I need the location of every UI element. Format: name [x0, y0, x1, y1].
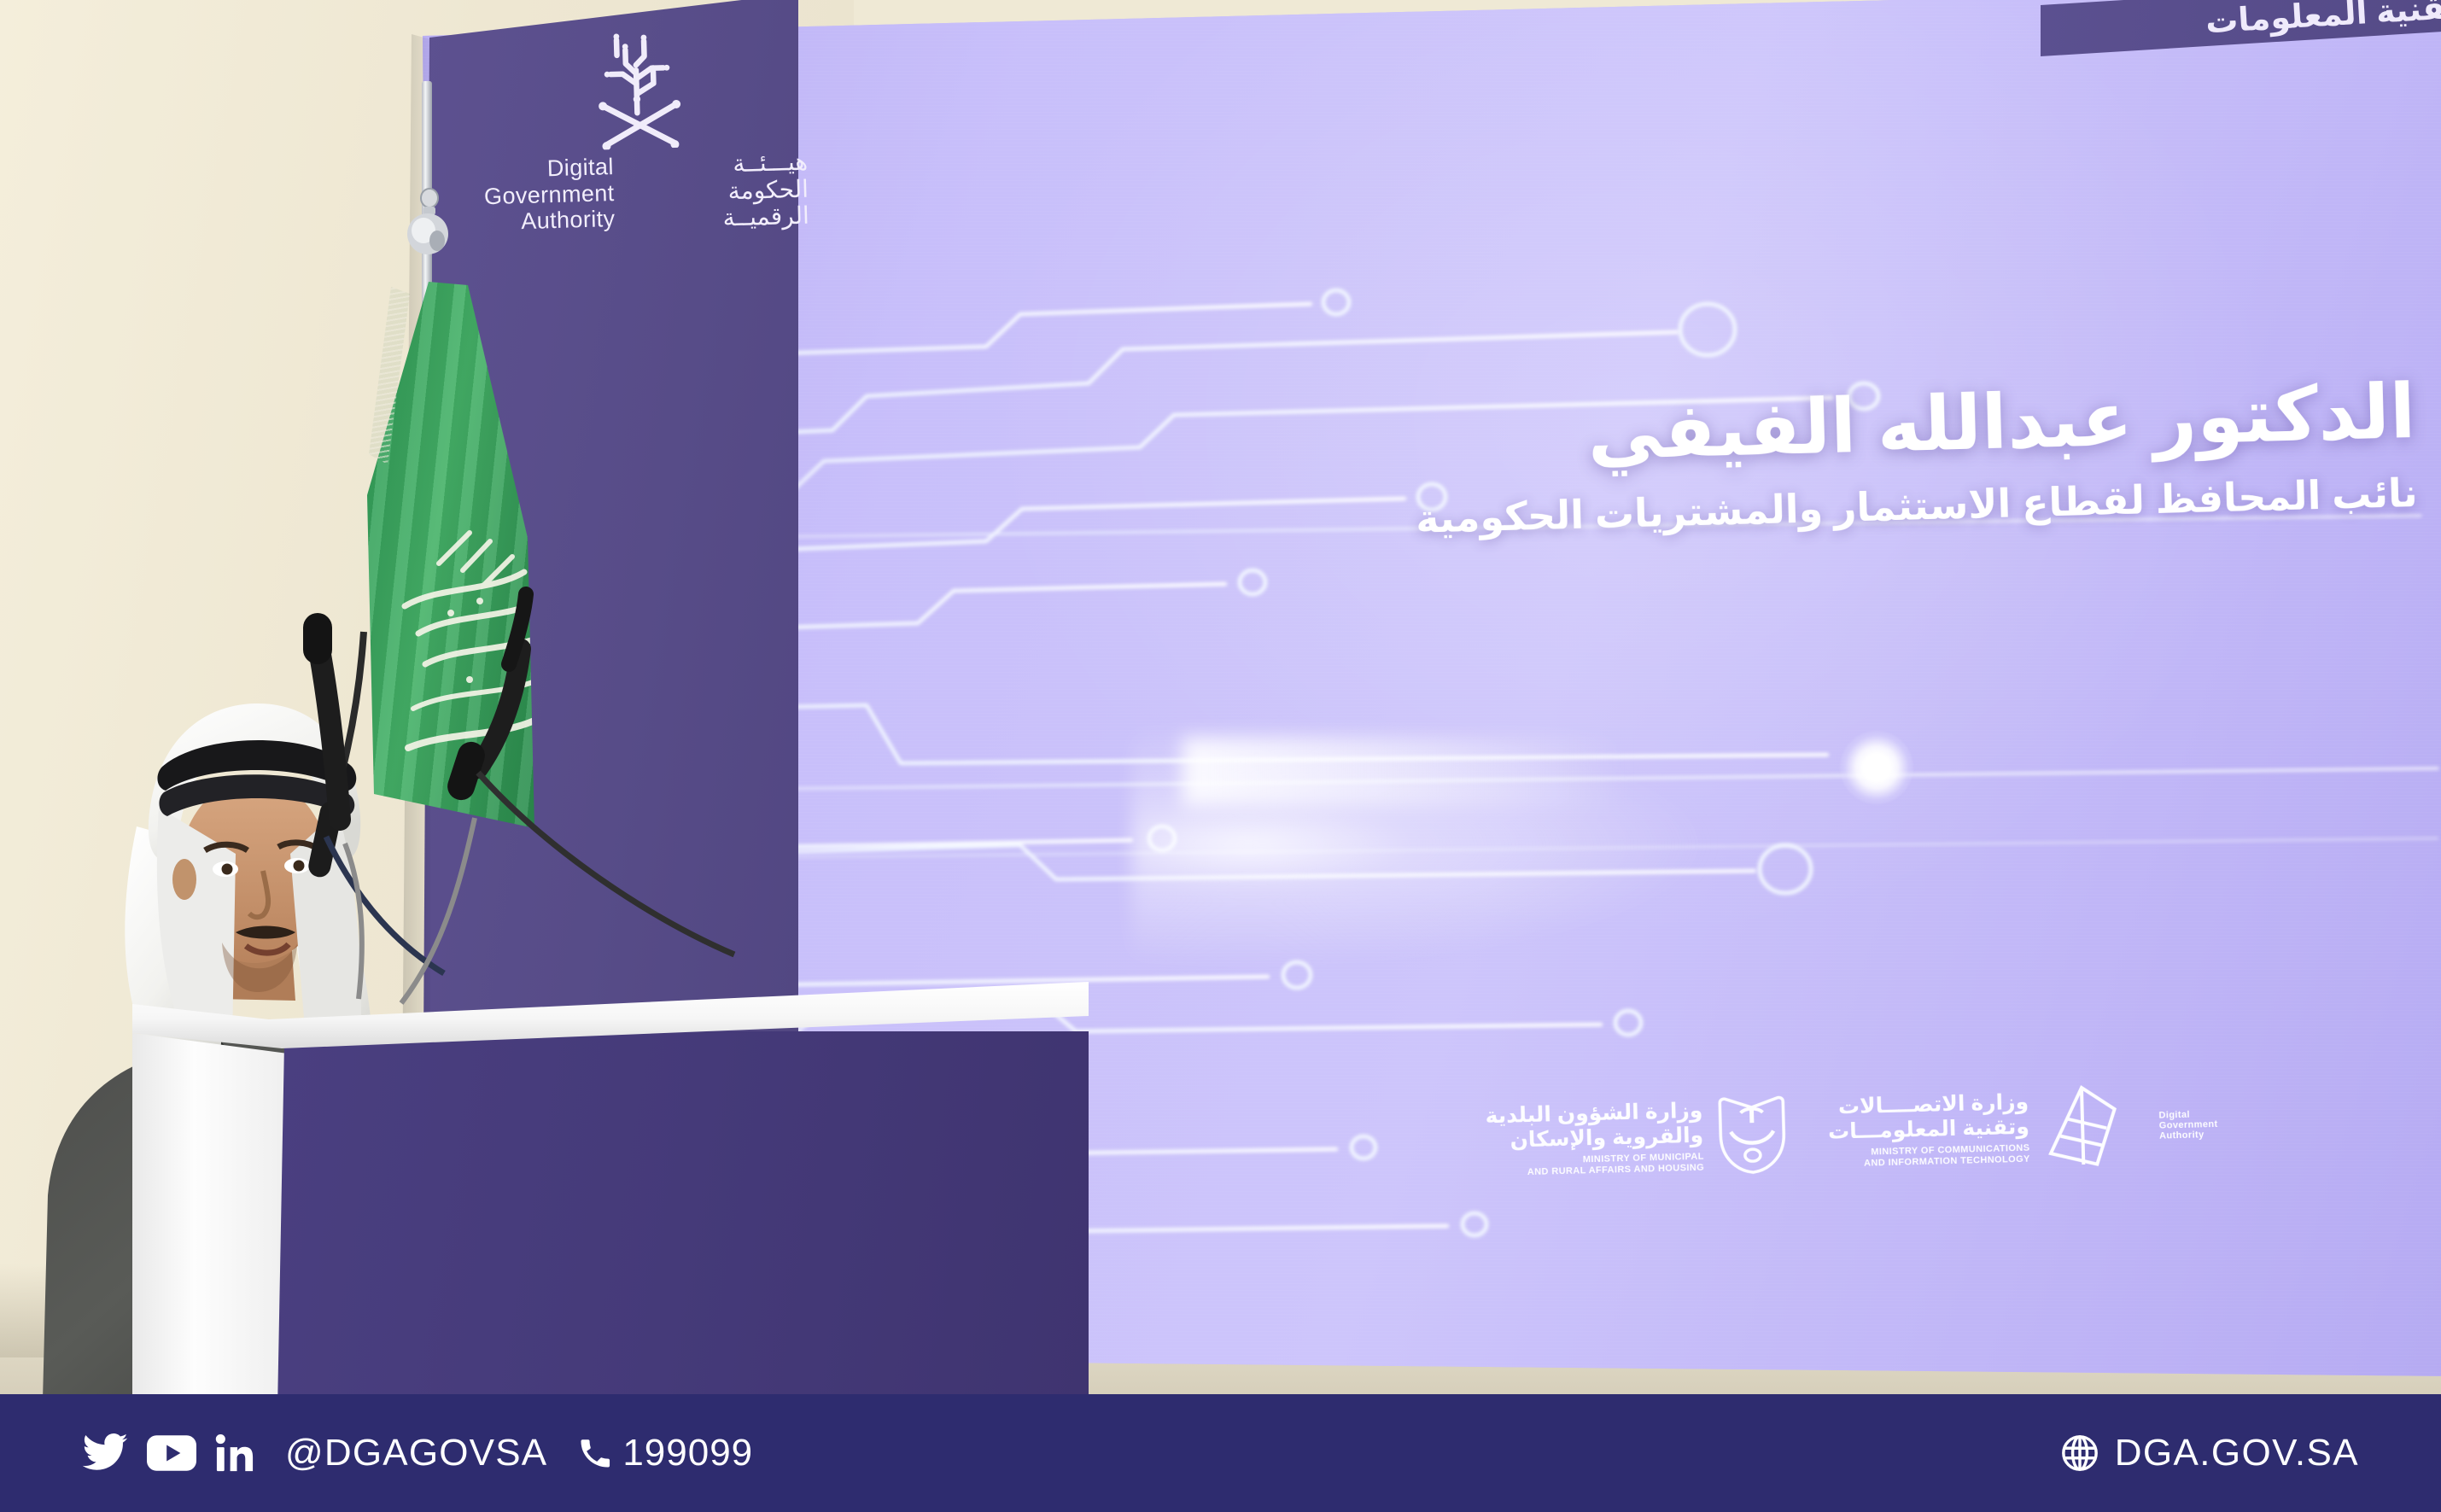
- partner-english-label: MINISTRY OF MUNICIPAL AND RURAL AFFAIRS …: [1486, 1152, 1704, 1179]
- momrah-shield-emblem-icon: [1714, 1093, 1790, 1176]
- linkedin-icon[interactable]: [215, 1433, 254, 1473]
- social-icons-group: [82, 1433, 254, 1473]
- partner-logo-dga: Digital Government Authority: [2158, 1106, 2218, 1141]
- podium-side-panel: [132, 1021, 288, 1409]
- phone-number: 199099: [622, 1432, 753, 1474]
- partner-arabic-label: وزارة الشؤون البلدية والقروية والإسكان: [1485, 1099, 1703, 1154]
- partner-english-label: MINISTRY OF COMMUNICATIONS AND INFORMATI…: [1829, 1143, 2030, 1170]
- youtube-icon[interactable]: [147, 1434, 196, 1472]
- partner-english-label: Digital Government Authority: [2158, 1109, 2218, 1141]
- microphone-left: [303, 613, 444, 973]
- podium-front-panel: [277, 1031, 1089, 1409]
- phone-group[interactable]: 199099: [576, 1432, 753, 1474]
- bottom-bar-right-group[interactable]: DGA.GOV.SA: [2060, 1432, 2359, 1474]
- partner-logo-momrah: وزارة الشؤون البلدية والقروية والإسكان M…: [1485, 1093, 1790, 1182]
- phone-icon: [576, 1434, 614, 1472]
- partner-arabic-label: وزارة الاتصــــالات وتقنية المعلومـــات: [1827, 1090, 2029, 1145]
- social-handle[interactable]: @DGAGOVSA: [285, 1432, 547, 1474]
- bottom-contact-bar: @DGAGOVSA 199099 DGA.GOV.SA: [0, 1394, 2441, 1512]
- bottom-bar-left-group: @DGAGOVSA 199099: [82, 1432, 753, 1474]
- backdrop-title-block: الدكتور عبدالله الفيفي نائب المحافظ لقطا…: [1313, 367, 2418, 547]
- partner-logo-mcit: وزارة الاتصــــالات وتقنية المعلومـــات …: [1827, 1083, 2121, 1175]
- twitter-icon[interactable]: [82, 1433, 128, 1473]
- podium: [132, 982, 1089, 1409]
- screenshot-root: الدكتور عبدالله الفيفي نائب المحافظ لقطا…: [0, 0, 2441, 1512]
- globe-icon: [2060, 1433, 2099, 1473]
- microphone-group: [0, 0, 1025, 1110]
- partner-logo-row: وزارة الشؤون البلدية والقروية والإسكان M…: [1484, 1040, 2441, 1218]
- mcit-monogram-emblem-icon: [2041, 1083, 2122, 1169]
- microphone-right: [444, 594, 734, 954]
- website-url[interactable]: DGA.GOV.SA: [2115, 1432, 2359, 1474]
